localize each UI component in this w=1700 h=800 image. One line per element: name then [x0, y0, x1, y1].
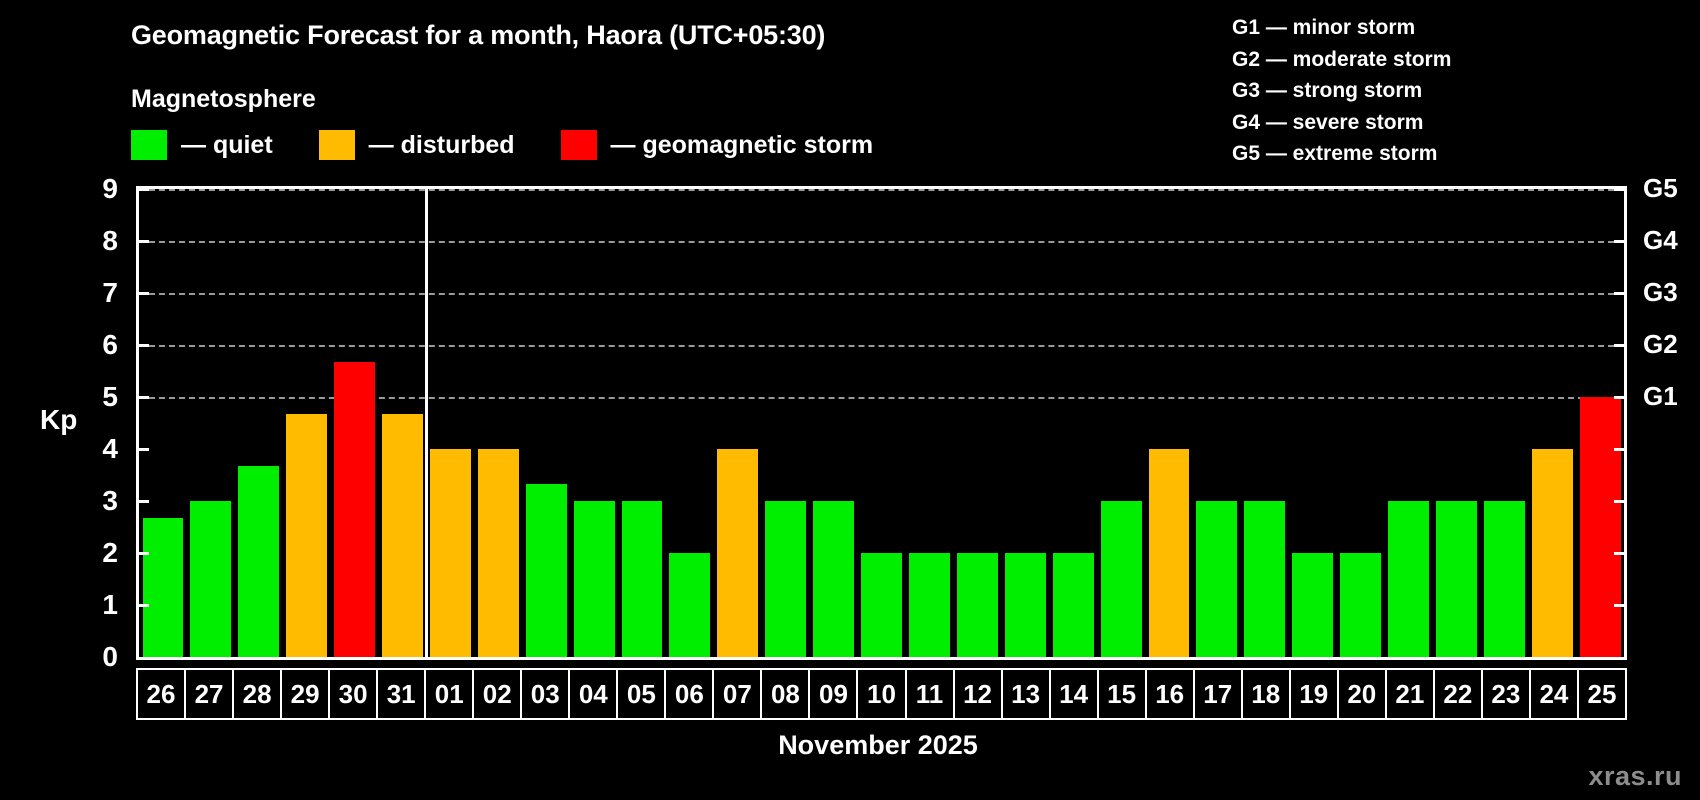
y-axis-tick — [136, 448, 149, 451]
date-axis-cell: 18 — [1243, 670, 1291, 718]
storm-scale-row: G1 — minor storm — [1232, 12, 1451, 44]
bar-cell — [810, 189, 858, 657]
g-axis-tick — [1614, 188, 1627, 191]
bar — [143, 518, 184, 657]
date-axis-cell: 16 — [1147, 670, 1195, 718]
g-axis-tick-label: G1 — [1643, 381, 1678, 412]
date-axis-cell: 11 — [907, 670, 955, 718]
bar — [1580, 397, 1621, 657]
bar — [478, 449, 519, 657]
storm-scale-row: G2 — moderate storm — [1232, 44, 1451, 76]
date-axis-cell: 04 — [570, 670, 618, 718]
y-axis-tick — [136, 396, 149, 399]
bar-cell — [1337, 189, 1385, 657]
y-axis-tick-label: 6 — [72, 331, 118, 359]
bar — [430, 449, 471, 657]
bar — [1292, 553, 1333, 657]
date-axis-cell: 10 — [858, 670, 906, 718]
date-axis-cell: 26 — [138, 670, 186, 718]
bar — [1005, 553, 1046, 657]
bar — [909, 553, 950, 657]
bar-cell — [331, 189, 379, 657]
bar-cell — [1385, 189, 1433, 657]
bar-cell — [1289, 189, 1337, 657]
bar — [957, 553, 998, 657]
bar-cell — [1432, 189, 1480, 657]
bar-cell — [235, 189, 283, 657]
g-axis-tick-label: G5 — [1643, 173, 1678, 204]
g-axis-tick — [1614, 396, 1627, 399]
bar-cell — [714, 189, 762, 657]
y-axis-tick — [136, 344, 149, 347]
bar — [1388, 501, 1429, 657]
bar-cell — [379, 189, 427, 657]
legend-item-label: — quiet — [181, 131, 273, 160]
date-axis-cell: 01 — [426, 670, 474, 718]
bar — [334, 362, 375, 657]
bar — [286, 414, 327, 657]
bar-cell — [1193, 189, 1241, 657]
bar-cell — [1097, 189, 1145, 657]
date-axis-cell: 15 — [1099, 670, 1147, 718]
bar — [669, 553, 710, 657]
legend-heading: Magnetosphere — [131, 85, 316, 114]
bar-cell — [187, 189, 235, 657]
legend-item: — quiet — [131, 130, 273, 160]
date-axis-cell: 12 — [955, 670, 1003, 718]
bar-series — [139, 189, 1624, 657]
bar-cell — [1145, 189, 1193, 657]
bar-cell — [953, 189, 1001, 657]
bar — [574, 501, 615, 657]
bar — [1149, 449, 1190, 657]
plot-area — [136, 186, 1627, 660]
y-axis-tick — [136, 604, 149, 607]
storm-scale-row: G3 — strong storm — [1232, 75, 1451, 107]
y-axis-tick-label: 7 — [72, 279, 118, 307]
bar-cell — [762, 189, 810, 657]
watermark: xras.ru — [1588, 761, 1682, 792]
month-label: November 2025 — [0, 730, 1700, 761]
bar — [813, 501, 854, 657]
magnetosphere-legend: — quiet— disturbed— geomagnetic storm — [131, 130, 919, 160]
bar-cell — [858, 189, 906, 657]
bar — [622, 501, 663, 657]
bar — [1532, 449, 1573, 657]
g-axis-tick — [1614, 552, 1627, 555]
storm-scale-legend: G1 — minor stormG2 — moderate stormG3 — … — [1232, 12, 1451, 170]
legend-item: — disturbed — [319, 130, 515, 160]
date-axis-cell: 29 — [282, 670, 330, 718]
date-axis-cell: 14 — [1051, 670, 1099, 718]
date-axis-cell: 31 — [378, 670, 426, 718]
bar-cell — [666, 189, 714, 657]
legend-item-label: — disturbed — [369, 131, 515, 160]
y-axis-tick-label: 9 — [72, 175, 118, 203]
legend-swatch-icon — [319, 130, 355, 160]
storm-scale-row: G4 — severe storm — [1232, 107, 1451, 139]
bar-cell — [1576, 189, 1624, 657]
date-axis-cell: 27 — [186, 670, 234, 718]
bar — [190, 501, 231, 657]
bar-cell — [906, 189, 954, 657]
date-axis-cell: 21 — [1387, 670, 1435, 718]
page-title: Geomagnetic Forecast for a month, Haora … — [131, 20, 825, 51]
bar — [1196, 501, 1237, 657]
y-axis-tick-label: 5 — [72, 383, 118, 411]
g-axis-tick — [1614, 292, 1627, 295]
legend-item: — geomagnetic storm — [561, 130, 874, 160]
bar — [1101, 501, 1142, 657]
date-axis-cell: 19 — [1291, 670, 1339, 718]
bar-cell — [1049, 189, 1097, 657]
date-axis-cell: 22 — [1435, 670, 1483, 718]
date-axis-cell: 09 — [810, 670, 858, 718]
legend-item-label: — geomagnetic storm — [611, 131, 874, 160]
g-axis-tick — [1614, 604, 1627, 607]
date-axis-cell: 25 — [1579, 670, 1625, 718]
bar — [1053, 553, 1094, 657]
y-axis-tick — [136, 188, 149, 191]
g-axis-tick-label: G4 — [1643, 225, 1678, 256]
bar-cell — [1528, 189, 1576, 657]
y-axis-tick — [136, 500, 149, 503]
bar — [382, 414, 423, 657]
storm-scale-row: G5 — extreme storm — [1232, 138, 1451, 170]
bar-cell — [1480, 189, 1528, 657]
y-axis-tick — [136, 240, 149, 243]
bar — [1436, 501, 1477, 657]
g-axis-tick — [1614, 500, 1627, 503]
y-axis-tick-label: 8 — [72, 227, 118, 255]
bar — [861, 553, 902, 657]
date-axis-cell: 06 — [666, 670, 714, 718]
bar — [1244, 501, 1285, 657]
y-axis-tick-label: 0 — [72, 643, 118, 671]
y-axis-tick-label: 4 — [72, 435, 118, 463]
y-axis-title: Kp — [40, 404, 77, 436]
date-axis-cell: 17 — [1195, 670, 1243, 718]
g-axis-tick-label: G3 — [1643, 277, 1678, 308]
y-axis-tick-label: 2 — [72, 539, 118, 567]
bar-cell — [426, 189, 474, 657]
bar — [238, 466, 279, 657]
bar-cell — [1241, 189, 1289, 657]
bar-cell — [139, 189, 187, 657]
date-axis-cell: 30 — [330, 670, 378, 718]
date-axis-cell: 07 — [714, 670, 762, 718]
date-axis-cell: 02 — [474, 670, 522, 718]
y-axis-tick-label: 3 — [72, 487, 118, 515]
g-axis-tick-label: G2 — [1643, 329, 1678, 360]
bar — [1484, 501, 1525, 657]
geomagnetic-forecast-chart: Geomagnetic Forecast for a month, Haora … — [0, 0, 1700, 800]
bar-cell — [570, 189, 618, 657]
y-axis-tick-label: 1 — [72, 591, 118, 619]
date-axis-cell: 03 — [522, 670, 570, 718]
legend-swatch-icon — [131, 130, 167, 160]
bar-cell — [1001, 189, 1049, 657]
date-axis-cell: 13 — [1003, 670, 1051, 718]
legend-swatch-icon — [561, 130, 597, 160]
date-axis-cell: 24 — [1531, 670, 1579, 718]
bar-cell — [618, 189, 666, 657]
g-axis-tick — [1614, 344, 1627, 347]
bar — [765, 501, 806, 657]
date-axis-cell: 05 — [618, 670, 666, 718]
date-axis-cell: 23 — [1483, 670, 1531, 718]
y-axis-tick — [136, 292, 149, 295]
g-axis-tick — [1614, 240, 1627, 243]
g-axis-tick — [1614, 448, 1627, 451]
bar — [526, 484, 567, 657]
date-axis-cell: 28 — [234, 670, 282, 718]
bar-cell — [522, 189, 570, 657]
date-axis-cell: 20 — [1339, 670, 1387, 718]
bar-cell — [474, 189, 522, 657]
date-axis: 2627282930310102030405060708091011121314… — [136, 668, 1627, 720]
date-axis-cell: 08 — [762, 670, 810, 718]
y-axis-tick — [136, 552, 149, 555]
bar — [717, 449, 758, 657]
bar-cell — [283, 189, 331, 657]
bar — [1340, 553, 1381, 657]
